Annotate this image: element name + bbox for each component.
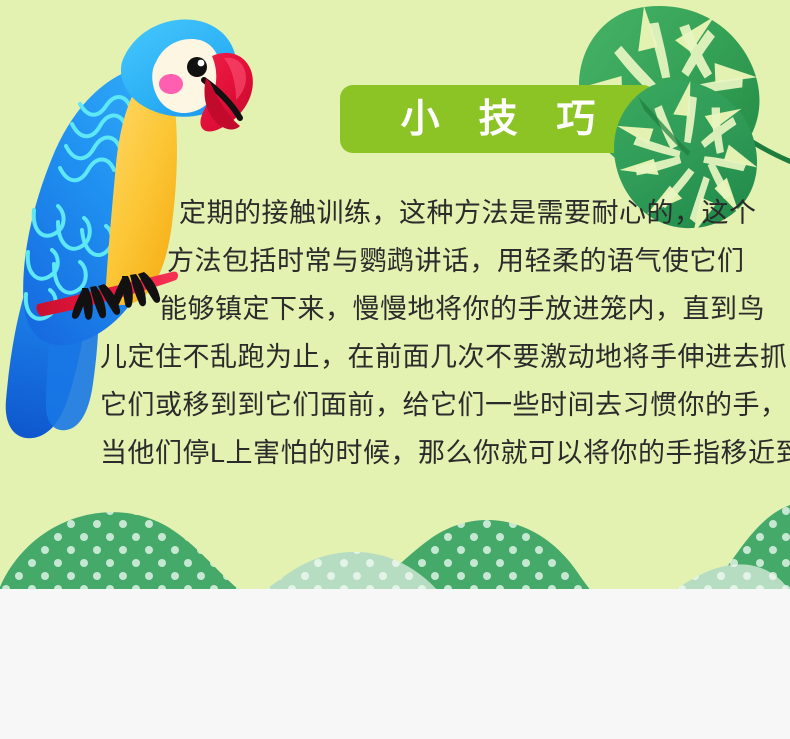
body-line-5: 它们或移到到它们面前，给它们一些时间去习惯你的手，: [100, 381, 764, 429]
parrot-cheek: [159, 74, 183, 94]
body-line-4: 儿定住不乱跑为止，在前面几次不要激动地将手伸进去抓: [100, 333, 764, 381]
parrot-eye: [187, 57, 207, 77]
body-line-3: 能够镇定下来，慢慢地将你的手放进笼内，直到鸟: [100, 285, 764, 333]
body-line-1: 定期的接触训练，这种方法是需要耐心的，这个: [100, 189, 764, 237]
section-title-text: 小 技 巧: [387, 100, 610, 139]
bottom-white-base: [0, 589, 790, 739]
body-line-6: 当他们停L上害怕的时候，那么你就可以将你的手指移近到: [100, 429, 764, 477]
body-copy: 定期的接触训练，这种方法是需要耐心的，这个 方法包括时常与鹦鹉讲话，用轻柔的语气…: [100, 189, 764, 477]
poster-canvas: 小 技 巧: [0, 0, 790, 739]
body-line-2: 方法包括时常与鹦鹉讲话，用轻柔的语气使它们: [100, 237, 764, 285]
section-title-banner: 小 技 巧: [340, 85, 656, 153]
